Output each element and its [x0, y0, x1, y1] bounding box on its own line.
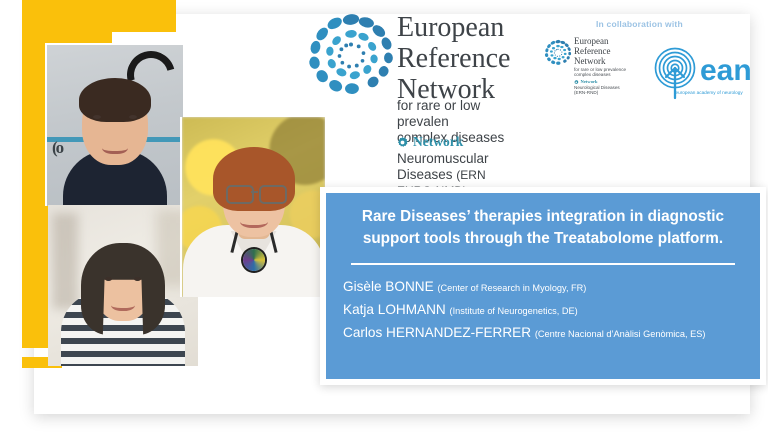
ern-rnd-tagline: for rare or low prevalence complex disea… [574, 67, 626, 78]
ern-dot-spiral-icon-small [543, 38, 573, 68]
ean-logo: ean european academy of neurology [652, 46, 762, 102]
author-affiliation: (Institute of Neurogenetics, DE) [450, 306, 578, 316]
ean-wordmark: ean [700, 54, 752, 87]
author-affiliation: (Centre Nacional d’Anàlisi Genòmica, ES) [535, 329, 706, 339]
ern-rnd-logo: European Reference Network for rare or l… [543, 36, 648, 98]
ern-rnd-wordmark-line-2: Reference [574, 46, 610, 56]
ern-network-label: Network [413, 134, 463, 150]
photo-man-eye-left [93, 115, 101, 119]
photo-man-brow-right [126, 108, 140, 111]
ern-tagline-line-1: for rare or low prevalen [397, 98, 521, 130]
ern-wordmark-line-1: European [397, 12, 510, 43]
photo-man: (o [45, 43, 183, 206]
photo-woman-glasses-lens-left [226, 185, 254, 204]
photo-woman-striped-bokeh-left [52, 213, 78, 309]
ern-rnd-wordmark: European Reference Network [574, 36, 610, 66]
presentation-title: Rare Diseases’ therapies integration in … [343, 206, 743, 250]
author-name: Carlos HERNANDEZ-FERRER [343, 325, 531, 340]
title-card: Rare Diseases’ therapies integration in … [326, 193, 760, 379]
photo-man-brow-left [90, 108, 104, 111]
author-row: Carlos HERNANDEZ-FERRER (Centre Nacional… [343, 322, 743, 345]
photo-woman-striped-eye-left [105, 277, 112, 281]
author-affiliation: (Center of Research in Myology, FR) [437, 283, 586, 293]
photo-woman-striped [48, 205, 198, 366]
photo-woman-glasses-lens-right [259, 185, 287, 204]
photo-man-backdrop-text: (o [52, 138, 62, 158]
ern-rnd-wordmark-line-1: European [574, 36, 610, 46]
gear-icon-small [574, 80, 579, 85]
photo-man-hair [79, 78, 151, 122]
author-row: Gisèle BONNE (Center of Research in Myol… [343, 276, 743, 299]
ern-rnd-network-name: Neurological Diseases (ERN-RND) [574, 85, 620, 96]
ern-rnd-network-label: Network [581, 79, 598, 84]
photo-man-smile [102, 139, 128, 154]
ern-rnd-network-code: (ERN-RND) [574, 90, 620, 95]
ern-network-row: Network [397, 134, 463, 150]
author-list: Gisèle BONNE (Center of Research in Myol… [343, 276, 743, 345]
ern-network-name-line-2-text: Diseases [397, 167, 453, 182]
ern-dot-spiral-icon [303, 8, 399, 104]
author-row: Katja LOHMANN (Institute of Neurogenetic… [343, 299, 743, 322]
collaboration-label: In collaboration with [596, 19, 683, 29]
ern-wordmark-line-2: Reference [397, 43, 510, 74]
author-name: Katja LOHMANN [343, 302, 446, 317]
photo-woman-striped-eye-right [134, 277, 141, 281]
ern-logo: European Reference Network for rare or l… [303, 8, 521, 180]
ern-rnd-network-row: Network [574, 79, 598, 85]
ern-wordmark: European Reference Network [397, 12, 510, 105]
photo-man-eye-right [129, 115, 137, 119]
slide-canvas: (o [0, 0, 768, 432]
ern-rnd-tagline-line-2: complex diseases [574, 72, 626, 77]
ean-tagline: european academy of neurology [676, 90, 744, 95]
title-divider [351, 263, 735, 265]
ern-network-name-line-1: Neuromuscular [397, 151, 521, 167]
ern-rnd-wordmark-line-3: Network [574, 56, 610, 66]
gear-icon [397, 137, 408, 148]
author-name: Gisèle BONNE [343, 279, 434, 294]
photo-woman-glasses-bridge [251, 191, 258, 193]
photo-woman-striped-smile [111, 297, 135, 311]
photo-woman-glasses-smile [240, 213, 268, 228]
photo-woman-glasses-pendant [243, 249, 265, 271]
